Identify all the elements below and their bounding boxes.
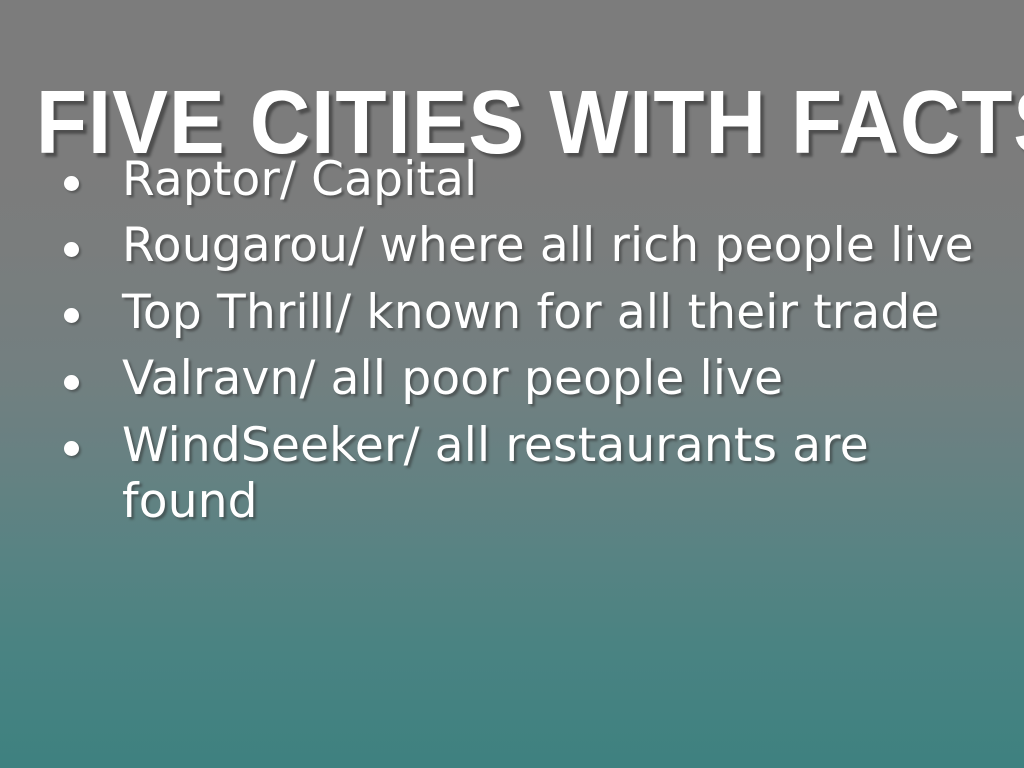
bullet-item-label: Rougarou/ where all rich people live [122, 218, 984, 274]
bullet-item-label: WindSeeker/ all restaurants are found [122, 418, 984, 531]
bullet-item-5: WindSeeker/ all restaurants are found [46, 418, 984, 531]
bullet-item-label: Raptor/ Capital [122, 152, 984, 208]
round-bullet-icon [64, 176, 79, 191]
bullet-item-label: Valravn/ all poor people live [122, 351, 984, 407]
bullet-list: Raptor/ Capital Rougarou/ where all rich… [46, 152, 984, 540]
presentation-slide: Five Cities with Facts Raptor/ Capital R… [0, 0, 1024, 768]
bullet-item-1: Raptor/ Capital [46, 152, 984, 208]
bullet-item-4: Valravn/ all poor people live [46, 351, 984, 407]
bullet-item-2: Rougarou/ where all rich people live [46, 218, 984, 274]
round-bullet-icon [64, 375, 79, 390]
round-bullet-icon [64, 242, 79, 257]
round-bullet-icon [64, 441, 79, 456]
round-bullet-icon [64, 308, 79, 323]
bullet-item-3: Top Thrill/ known for all their trade [46, 285, 984, 341]
bullet-item-label: Top Thrill/ known for all their trade [122, 285, 984, 341]
